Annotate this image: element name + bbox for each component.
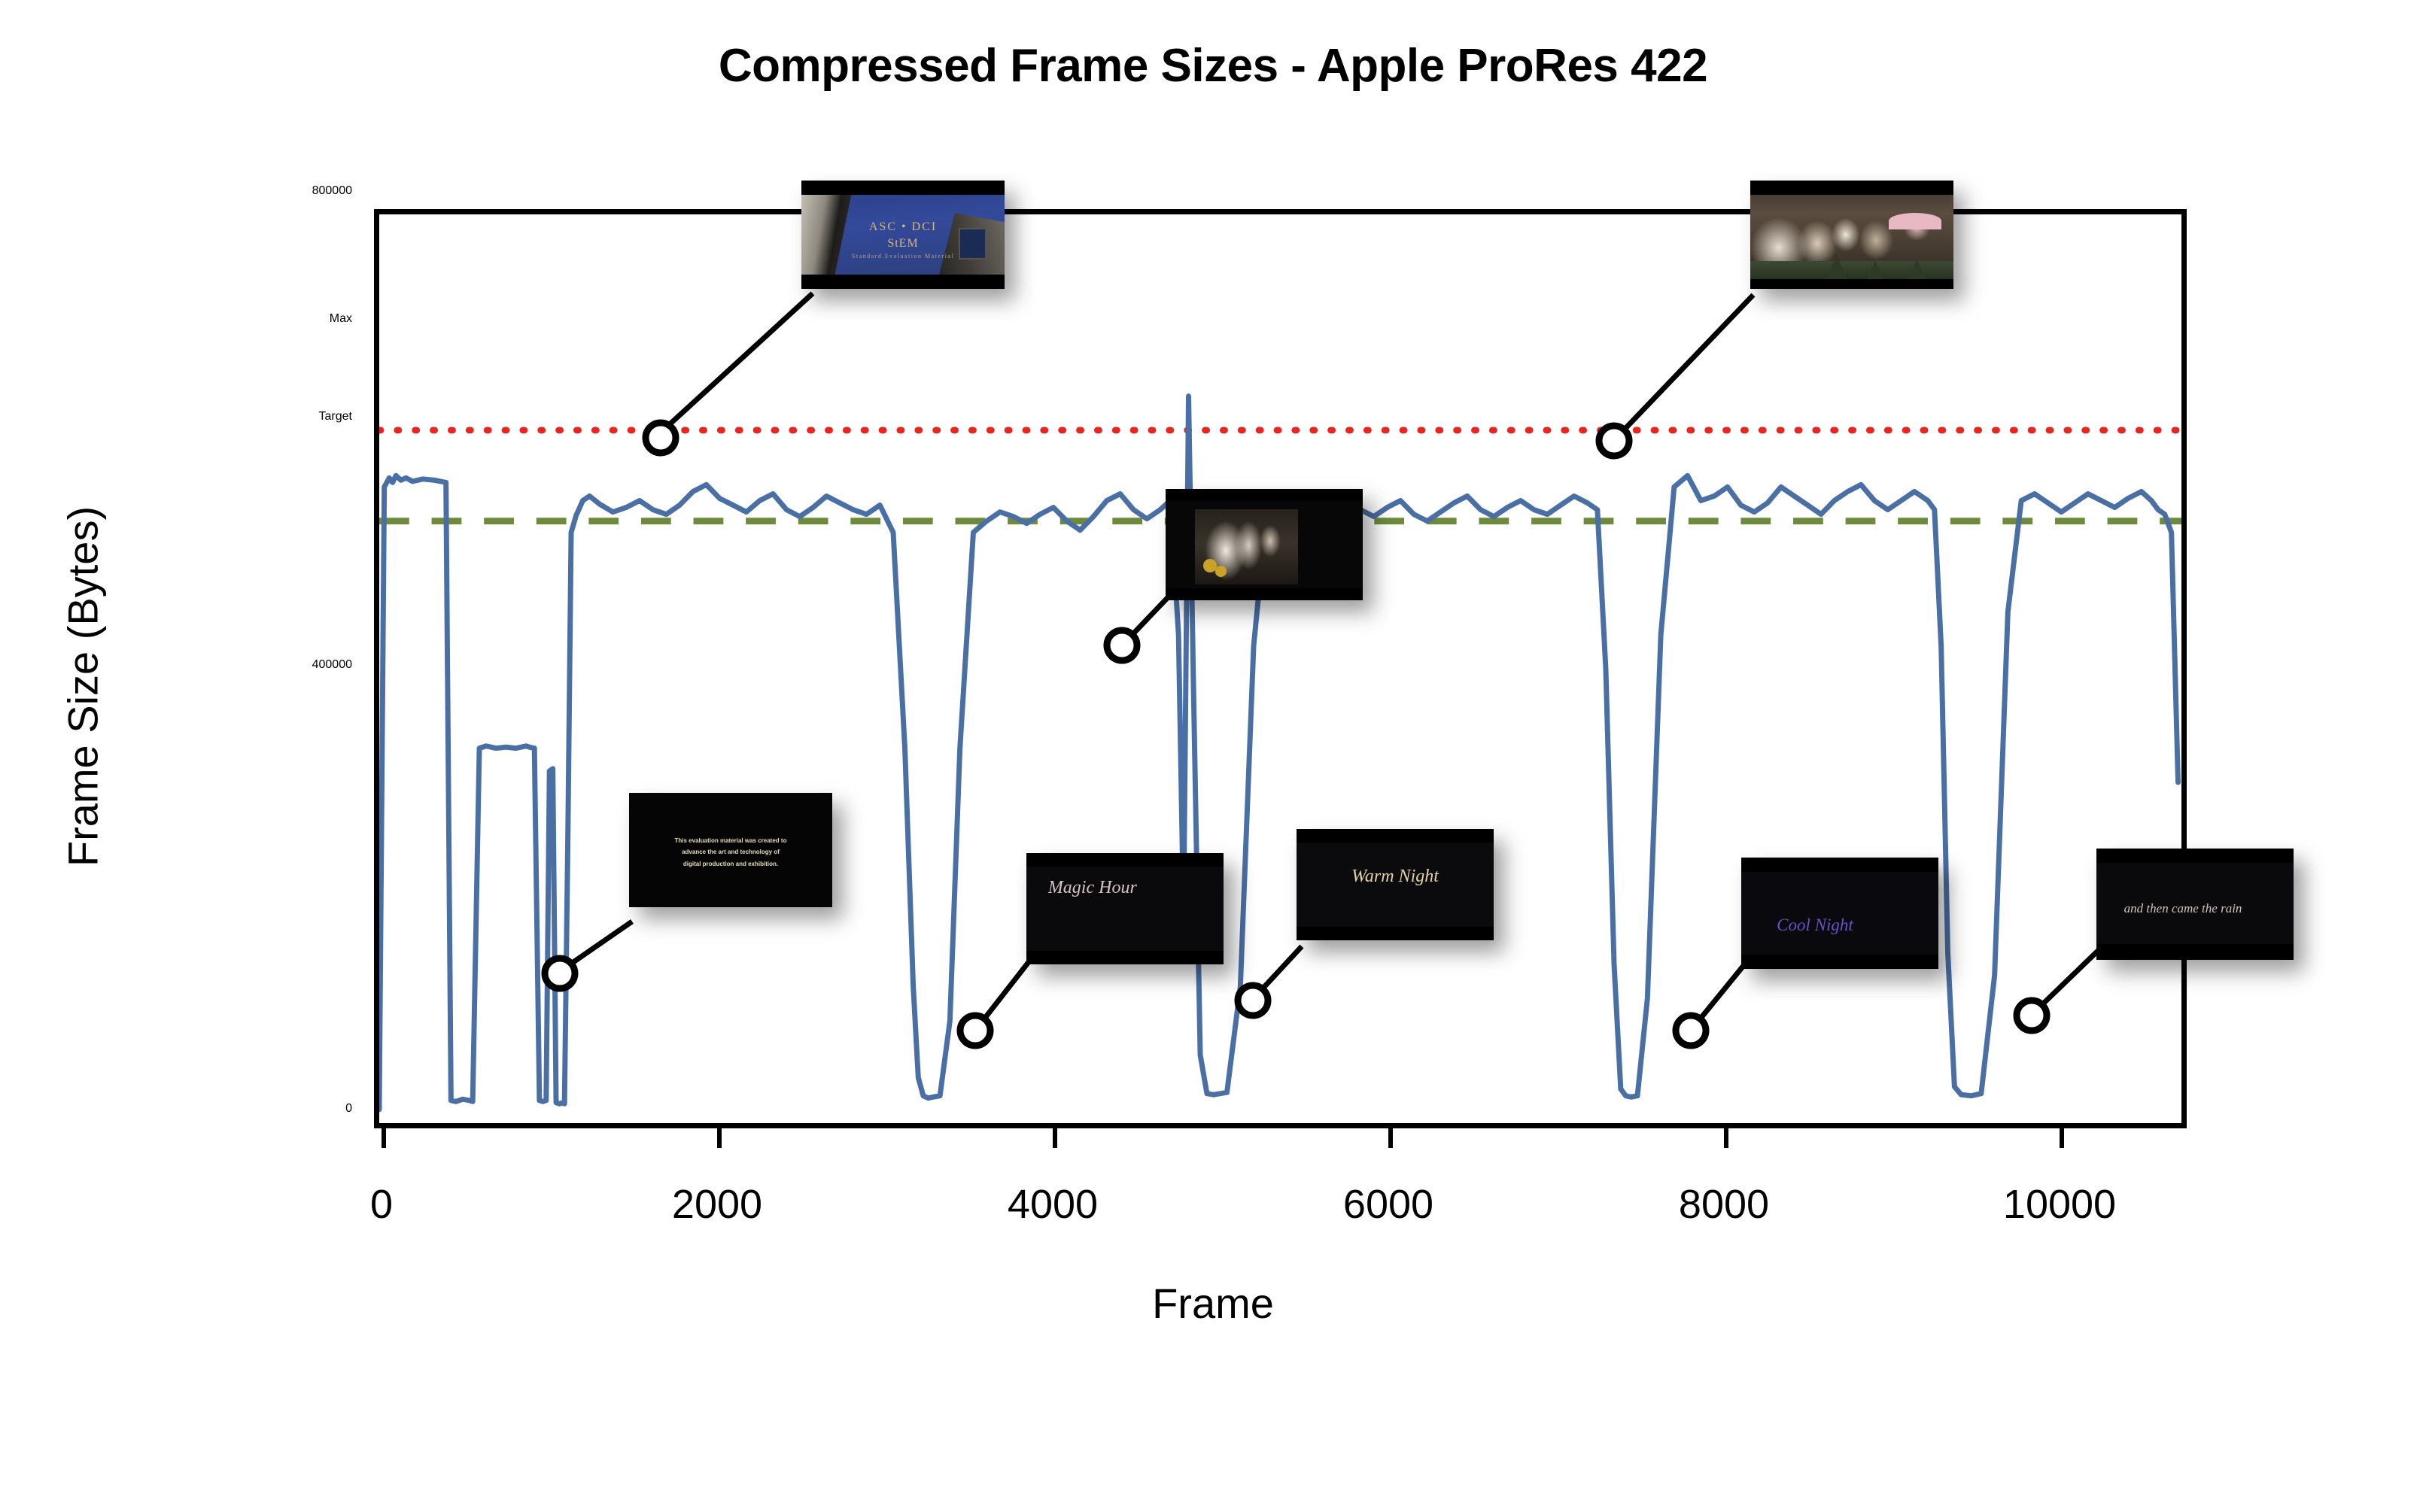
- x-tickmark-8000: [1724, 1128, 1728, 1148]
- x-tick-8000: 8000: [1604, 1181, 1844, 1228]
- magic-hour-letterbox-bottom: [1026, 951, 1224, 964]
- stem-letterbox-top: [801, 181, 1005, 195]
- y-tick-0: 0: [345, 1102, 352, 1115]
- stem-line3: Standard Evaluation Material: [801, 253, 1005, 260]
- stem-line1: ASC • DCI: [801, 220, 1005, 234]
- plot-svg: [379, 214, 2181, 1123]
- evaluation-line1: This evaluation material was created to: [629, 837, 832, 846]
- x-tick-4000: 4000: [932, 1181, 1173, 1228]
- magic-hour-label: Magic Hour: [1026, 878, 1224, 898]
- stem-letterbox-bottom: [801, 275, 1005, 289]
- thumbnail-wedding-party[interactable]: [1750, 181, 1953, 289]
- cool-night-label: Cool Night: [1741, 915, 1938, 935]
- thumbnail-bride-groom[interactable]: [1166, 489, 1363, 600]
- y-axis-title: Frame Size (Bytes): [59, 424, 108, 950]
- x-axis-title: Frame: [0, 1279, 2426, 1328]
- y-tick-0-wrap: 0: [0, 1102, 352, 1116]
- y-tick-max-wrap: Max: [0, 312, 352, 326]
- warm-night-label: Warm Night: [1297, 867, 1494, 887]
- wedding-letterbox-bottom: [1750, 279, 1953, 289]
- x-tick-10000: 10000: [1939, 1181, 2180, 1228]
- y-tick-800000: 800000: [312, 184, 352, 197]
- evaluation-line3: digital production and exhibition.: [629, 861, 832, 869]
- magic-hour-letterbox-top: [1026, 853, 1224, 867]
- warm-night-letterbox-bottom: [1297, 927, 1494, 940]
- wedding-party-art: [1750, 181, 1953, 289]
- thumbnail-stem-title-card[interactable]: ASC • DCI StEM Standard Evaluation Mater…: [801, 181, 1005, 289]
- rain-label: and then came the rain: [2096, 901, 2294, 916]
- warm-night-letterbox-top: [1297, 829, 1494, 843]
- thumbnail-rain[interactable]: and then came the rain: [2096, 849, 2294, 960]
- x-tickmark-6000: [1388, 1128, 1393, 1148]
- y-tick-400000: 400000: [312, 658, 352, 671]
- y-tick-800000-wrap: 800000: [0, 184, 352, 198]
- cool-night-letterbox-top: [1741, 858, 1938, 872]
- bride-flower-2: [1215, 566, 1227, 577]
- page-title: Compressed Frame Sizes - Apple ProRes 42…: [0, 39, 2426, 93]
- wedding-umbrella: [1889, 213, 1941, 229]
- x-tickmark-0: [382, 1128, 386, 1148]
- x-tick-2000: 2000: [597, 1181, 838, 1228]
- evaluation-line2: advance the art and technology of: [629, 849, 832, 857]
- y-tick-400000-wrap: 400000: [0, 658, 352, 672]
- y-tick-target-wrap: Target: [0, 410, 352, 424]
- thumbnail-cool-night[interactable]: Cool Night: [1741, 858, 1938, 969]
- x-tickmark-4000: [1053, 1128, 1057, 1148]
- thumbnail-warm-night[interactable]: Warm Night: [1297, 829, 1494, 940]
- rain-letterbox-top: [2096, 849, 2294, 863]
- thumbnail-magic-hour[interactable]: Magic Hour: [1026, 853, 1224, 964]
- stem-card-art: ASC • DCI StEM Standard Evaluation Mater…: [801, 181, 1005, 289]
- wedding-letterbox-top: [1750, 181, 1953, 195]
- bride-groom-art: [1195, 509, 1297, 585]
- bride-letterbox-top: [1166, 489, 1363, 501]
- thumbnail-evaluation-card[interactable]: This evaluation material was created to …: [629, 793, 832, 907]
- cool-night-letterbox-bottom: [1741, 955, 1938, 969]
- x-tickmark-10000: [2060, 1128, 2064, 1148]
- x-tick-0: 0: [261, 1181, 502, 1228]
- plot-area: [374, 209, 2187, 1128]
- y-tick-target: Target: [319, 410, 352, 423]
- y-tick-max: Max: [330, 312, 352, 325]
- rain-letterbox-bottom: [2096, 944, 2294, 960]
- stem-line2: StEM: [801, 237, 1005, 250]
- x-tick-6000: 6000: [1268, 1181, 1509, 1228]
- bride-letterbox-bottom: [1166, 588, 1363, 600]
- x-tickmark-2000: [717, 1128, 722, 1148]
